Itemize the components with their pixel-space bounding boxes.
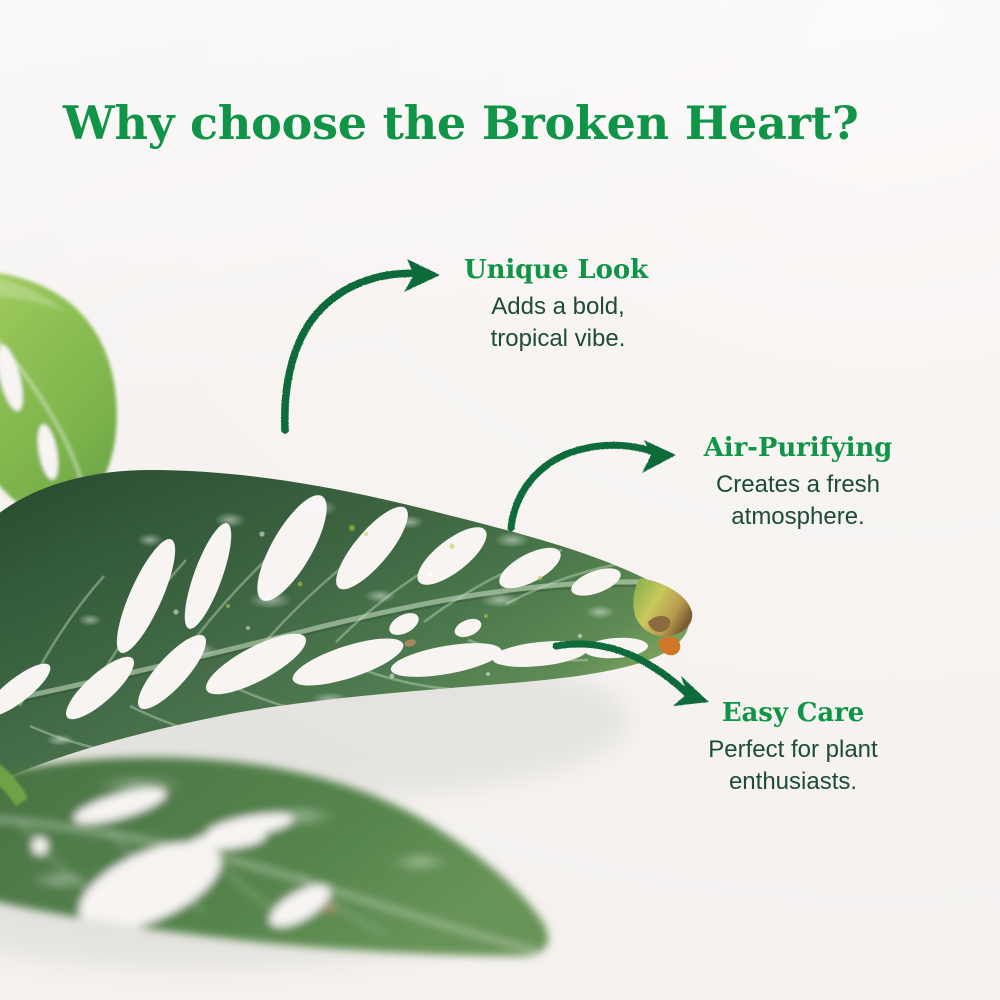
foreground-leaf-blemish <box>324 904 336 912</box>
feature-heading-unique-look: Unique Look <box>464 255 648 285</box>
page-title: Why choose the Broken Heart? <box>63 99 859 147</box>
feature-air-purifying: Air-Purifying Creates a fresh atmosphere… <box>686 433 910 532</box>
feature-body-air-purifying: Creates a fresh atmosphere. <box>686 469 910 532</box>
feature-heading-air-purifying: Air-Purifying <box>686 433 910 463</box>
feature-heading-easy-care: Easy Care <box>684 698 902 728</box>
feature-body-unique-look: Adds a bold, tropical vibe. <box>468 291 648 354</box>
promo-card: Why choose the Broken Heart? Unique Look… <box>0 0 1000 1000</box>
feature-easy-care: Easy Care Perfect for plant enthusiasts. <box>684 698 902 797</box>
feature-unique-look: Unique Look Adds a bold, tropical vibe. <box>464 255 648 354</box>
feature-body-easy-care: Perfect for plant enthusiasts. <box>684 734 902 797</box>
